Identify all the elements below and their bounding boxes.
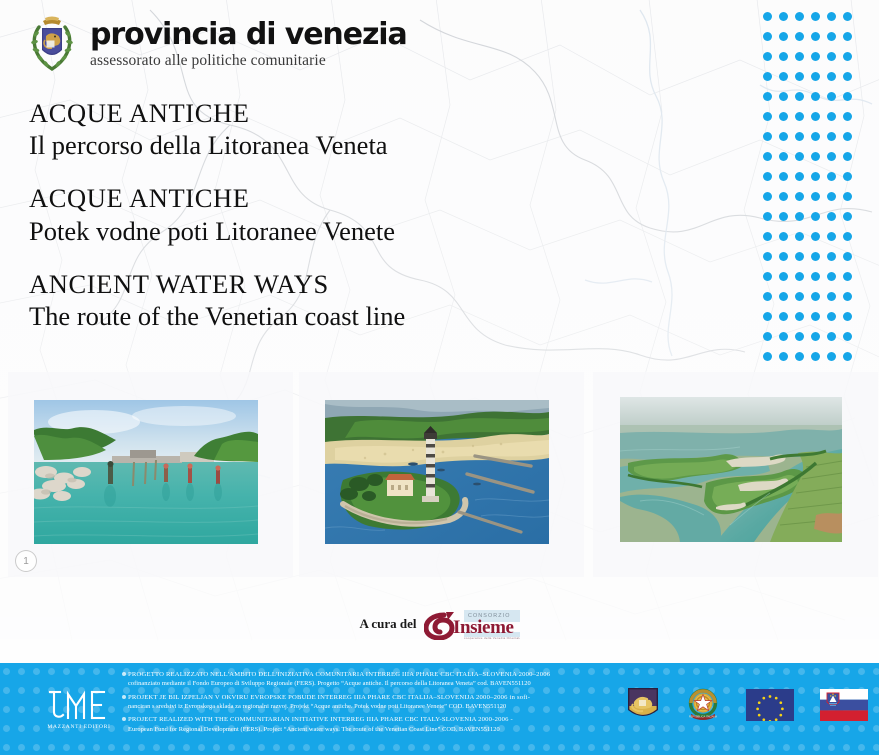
footer-dot	[63, 744, 70, 751]
decorative-dot	[763, 232, 772, 241]
decorative-dot	[811, 12, 820, 21]
footer-dot	[873, 668, 879, 675]
footer-dot	[78, 668, 85, 675]
decorative-dot	[827, 312, 836, 321]
footer-dot	[3, 725, 10, 732]
decorative-dot	[811, 352, 820, 361]
decorative-dot	[843, 112, 852, 121]
decorative-dot-grid	[759, 6, 855, 364]
decorative-dot	[827, 12, 836, 21]
decorative-dot	[779, 312, 788, 321]
footer-dot	[738, 744, 745, 751]
footer-dot	[768, 744, 775, 751]
footer-dot	[78, 744, 85, 751]
footer-dot	[498, 744, 505, 751]
decorative-dot	[811, 192, 820, 201]
bullet-icon	[122, 672, 126, 676]
decorative-dot	[811, 252, 820, 261]
footer-dot	[708, 725, 715, 732]
footer-dot	[633, 725, 640, 732]
decorative-dot	[763, 192, 772, 201]
footer-dot	[768, 725, 775, 732]
decorative-dot	[763, 172, 772, 181]
footer-funding-text: PROGETTO REALIZZATO NELL'AMBITO DELL'INI…	[128, 670, 610, 734]
footer-dot	[633, 744, 640, 751]
footer-dot	[93, 744, 100, 751]
provincia-venezia-coat-of-arms-icon	[28, 14, 76, 74]
veneto-coat-of-arms-icon	[626, 686, 660, 724]
decorative-dot	[779, 332, 788, 341]
decorative-dot	[779, 352, 788, 361]
decorative-dot	[779, 292, 788, 301]
decorative-dot	[779, 232, 788, 241]
decorative-dot	[763, 12, 772, 21]
decorative-dot	[827, 292, 836, 301]
decorative-dot	[779, 52, 788, 61]
footer-dot	[693, 744, 700, 751]
footer-dot	[618, 744, 625, 751]
footer-dot	[678, 668, 685, 675]
footer-dot	[723, 744, 730, 751]
decorative-dot	[843, 212, 852, 221]
decorative-dot	[843, 132, 852, 141]
footer-dot	[618, 668, 625, 675]
mazzanti-editori-logo: MAZZANTI EDITORI	[36, 688, 122, 730]
footer-dot	[843, 725, 850, 732]
footer-dot	[3, 668, 10, 675]
decorative-dot	[795, 172, 804, 181]
decorative-dot	[795, 72, 804, 81]
footer-dot	[48, 668, 55, 675]
title-group: ACQUE ANTICHE Il percorso della Litorane…	[29, 98, 405, 333]
decorative-dot	[795, 12, 804, 21]
decorative-dot	[779, 152, 788, 161]
footer-dot	[873, 706, 879, 713]
footer-dot	[378, 744, 385, 751]
decorative-dot	[811, 132, 820, 141]
footer-dot	[648, 744, 655, 751]
decorative-dot	[795, 272, 804, 281]
decorative-dot	[779, 172, 788, 181]
footer-dot	[723, 668, 730, 675]
decorative-dot	[827, 252, 836, 261]
bullet-icon	[122, 695, 126, 699]
decorative-dot	[795, 312, 804, 321]
decorative-dot	[843, 152, 852, 161]
title-sl-lower: Potek vodne poti Litoranee Venete	[29, 215, 405, 248]
footer-dot	[333, 744, 340, 751]
decorative-dot	[843, 32, 852, 41]
decorative-dot	[779, 132, 788, 141]
footer-dot	[423, 744, 430, 751]
decorative-dot	[795, 152, 804, 161]
title-sl-upper: ACQUE ANTICHE	[29, 183, 405, 214]
decorative-dot	[763, 112, 772, 121]
title-it-lower: Il percorso della Litoranea Veneta	[29, 129, 405, 162]
footer-dot	[513, 744, 520, 751]
decorative-dot	[779, 212, 788, 221]
decorative-dot	[811, 272, 820, 281]
title-en-lower: The route of the Venetian coast line	[29, 300, 405, 333]
decorative-dot	[795, 192, 804, 201]
decorative-dot	[795, 112, 804, 121]
footer-dot	[48, 744, 55, 751]
footer-dot	[858, 725, 865, 732]
footer-dot	[663, 725, 670, 732]
footer-dot	[603, 744, 610, 751]
footer-dot	[3, 744, 10, 751]
decorative-dot	[827, 332, 836, 341]
decorative-dot	[763, 92, 772, 101]
footer-dot	[723, 725, 730, 732]
decorative-dot	[827, 192, 836, 201]
footer-dot	[783, 668, 790, 675]
decorative-dot	[827, 212, 836, 221]
footer-dot	[93, 668, 100, 675]
footer-paragraph-sl: PROJEKT JE BIL IZPELJAN V OKVIRU EVROPSK…	[128, 693, 610, 712]
decorative-dot	[827, 152, 836, 161]
footer-dot	[828, 668, 835, 675]
decorative-dot	[763, 272, 772, 281]
photo-lighthouse	[299, 372, 584, 577]
brand-text: provincia di venezia assessorato alle po…	[90, 18, 407, 71]
footer-paragraph-it: PROGETTO REALIZZATO NELL'AMBITO DELL'INI…	[128, 670, 610, 689]
footer-dot	[693, 668, 700, 675]
decorative-dot	[843, 232, 852, 241]
footer-dot	[783, 744, 790, 751]
decorative-dot	[843, 292, 852, 301]
footer-dot	[33, 744, 40, 751]
footer-dot	[18, 668, 25, 675]
svg-text:cooperative della Venezia Orie: cooperative della Venezia Orientale	[464, 636, 520, 640]
footer-dot	[258, 744, 265, 751]
title-en-upper: ANCIENT WATER WAYS	[29, 269, 405, 300]
decorative-dot	[811, 312, 820, 321]
decorative-dot	[811, 232, 820, 241]
decorative-dot	[843, 172, 852, 181]
footer-dot	[648, 668, 655, 675]
footer-dot	[558, 744, 565, 751]
footer-dot	[873, 687, 879, 694]
decorative-dot	[827, 352, 836, 361]
decorative-dot	[795, 212, 804, 221]
footer-dot	[648, 725, 655, 732]
footer-dot	[618, 725, 625, 732]
decorative-dot	[827, 172, 836, 181]
decorative-dot	[827, 52, 836, 61]
footer-dot	[678, 725, 685, 732]
title-block-en: ANCIENT WATER WAYS The route of the Vene…	[29, 269, 405, 333]
decorative-dot	[843, 272, 852, 281]
footer-dot	[123, 744, 130, 751]
title-block-sl: ACQUE ANTICHE Potek vodne poti Litoranee…	[29, 183, 405, 247]
decorative-dot	[763, 32, 772, 41]
header-logo-block: provincia di venezia assessorato alle po…	[28, 14, 407, 74]
footer-sl-line1: PROJEKT JE BIL IZPELJAN V OKVIRU EVROPSK…	[128, 693, 610, 702]
decorative-dot	[811, 172, 820, 181]
footer-dot	[618, 706, 625, 713]
footer-it-line2: cofinanziato mediante il Fondo Europeo d…	[128, 679, 610, 688]
decorative-dot	[843, 12, 852, 21]
footer-dot	[63, 668, 70, 675]
credit-line: A cura del CONSORZIO Insieme cooperative…	[0, 608, 879, 640]
footer-dot	[18, 744, 25, 751]
footer-dot	[618, 687, 625, 694]
footer-dot	[708, 744, 715, 751]
footer-dot	[753, 668, 760, 675]
decorative-dot	[795, 32, 804, 41]
footer-dot	[363, 744, 370, 751]
svg-text:REPVBBLICA ITALIANA: REPVBBLICA ITALIANA	[689, 715, 717, 719]
footer-dot	[753, 725, 760, 732]
footer-dot	[693, 725, 700, 732]
footer-dot	[438, 744, 445, 751]
title-block-it: ACQUE ANTICHE Il percorso della Litorane…	[29, 98, 405, 162]
footer-dot	[483, 744, 490, 751]
photo-river-delta	[593, 372, 878, 577]
jme-monogram-icon	[48, 688, 110, 722]
decorative-dot	[811, 52, 820, 61]
footer-dot	[858, 668, 865, 675]
footer-dot	[138, 744, 145, 751]
footer-dot	[738, 668, 745, 675]
footer-dot	[183, 744, 190, 751]
decorative-dot	[827, 112, 836, 121]
footer-dot	[243, 744, 250, 751]
credit-label: A cura del	[359, 616, 416, 632]
footer-dot	[843, 668, 850, 675]
footer-dot	[828, 744, 835, 751]
decorative-dot	[811, 292, 820, 301]
decorative-dot	[795, 352, 804, 361]
decorative-dot	[827, 232, 836, 241]
decorative-dot	[779, 12, 788, 21]
decorative-dot	[843, 72, 852, 81]
page-number-badge: 1	[15, 550, 37, 572]
decorative-dot	[811, 152, 820, 161]
decorative-dot	[843, 352, 852, 361]
decorative-dot	[843, 332, 852, 341]
decorative-dot	[779, 92, 788, 101]
poster-page: provincia di venezia assessorato alle po…	[0, 0, 879, 755]
footer-dot	[753, 744, 760, 751]
footer-dot	[738, 725, 745, 732]
decorative-dot	[811, 332, 820, 341]
svg-text:Insieme: Insieme	[453, 617, 514, 638]
footer-dot	[33, 668, 40, 675]
decorative-dot	[763, 52, 772, 61]
footer-dot	[543, 744, 550, 751]
footer-en-line2: European Fund for Regional Development (…	[128, 725, 610, 734]
footer-dot	[663, 668, 670, 675]
decorative-dot	[827, 92, 836, 101]
footer-dot	[633, 668, 640, 675]
footer-emblem-row: REPVBBLICA ITALIANA	[626, 686, 868, 724]
footer-dot	[828, 725, 835, 732]
decorative-dot	[763, 212, 772, 221]
footer-dot	[453, 744, 460, 751]
decorative-dot	[763, 252, 772, 261]
decorative-dot	[843, 252, 852, 261]
decorative-dot	[779, 272, 788, 281]
mazzanti-caption: MAZZANTI EDITORI	[36, 724, 122, 730]
decorative-dot	[811, 92, 820, 101]
italian-republic-emblem-icon: REPVBBLICA ITALIANA	[686, 686, 720, 724]
decorative-dot	[795, 92, 804, 101]
footer-it-line1: PROGETTO REALIZZATO NELL'AMBITO DELL'INI…	[128, 670, 610, 679]
decorative-dot	[795, 132, 804, 141]
footer-dot	[198, 744, 205, 751]
decorative-dot	[763, 72, 772, 81]
footer-sl-line2: nanciran s sredstvi iz Evropskega sklada…	[128, 702, 610, 711]
decorative-dot	[827, 72, 836, 81]
footer-dot	[678, 744, 685, 751]
footer-dot	[288, 744, 295, 751]
footer-dot	[708, 668, 715, 675]
decorative-dot	[811, 112, 820, 121]
footer-paragraph-en: PROJECT REALIZED WITH THE COMMUNITARIAN …	[128, 715, 610, 734]
footer-dot	[843, 744, 850, 751]
footer-dot	[228, 744, 235, 751]
footer-dot	[213, 744, 220, 751]
footer-dot	[663, 744, 670, 751]
footer-dot	[468, 744, 475, 751]
decorative-dot	[795, 252, 804, 261]
footer-dot	[813, 744, 820, 751]
title-it-upper: ACQUE ANTICHE	[29, 98, 405, 129]
brand-subtitle: assessorato alle politiche comunitarie	[90, 52, 407, 70]
footer-dot	[3, 706, 10, 713]
decorative-dot	[827, 272, 836, 281]
footer-dot	[813, 668, 820, 675]
decorative-dot	[779, 72, 788, 81]
footer-dot	[798, 668, 805, 675]
decorative-dot	[811, 72, 820, 81]
footer-dot	[573, 744, 580, 751]
footer-dot	[798, 744, 805, 751]
decorative-dot	[763, 312, 772, 321]
decorative-dot	[779, 112, 788, 121]
footer-dot	[783, 725, 790, 732]
decorative-dot	[827, 32, 836, 41]
photo-canal	[8, 372, 293, 577]
footer-dot	[528, 744, 535, 751]
footer-dot	[393, 744, 400, 751]
european-union-flag-icon	[746, 689, 794, 721]
footer-dot	[153, 744, 160, 751]
footer-dot	[348, 744, 355, 751]
footer-dot	[303, 744, 310, 751]
decorative-dot	[763, 152, 772, 161]
decorative-dot	[843, 312, 852, 321]
decorative-dot	[779, 192, 788, 201]
footer-dot	[873, 744, 879, 751]
decorative-dot	[795, 292, 804, 301]
footer-dot	[798, 725, 805, 732]
footer-dot	[108, 744, 115, 751]
footer-dot	[813, 725, 820, 732]
consorzio-insieme-logo-icon: CONSORZIO Insieme cooperative della Vene…	[424, 608, 520, 640]
decorative-dot	[843, 192, 852, 201]
footer-dot	[588, 744, 595, 751]
footer-dot	[768, 668, 775, 675]
decorative-dot	[843, 52, 852, 61]
footer-dot	[318, 744, 325, 751]
footer-dot	[873, 725, 879, 732]
footer-dot	[3, 687, 10, 694]
footer-dot	[108, 668, 115, 675]
decorative-dot	[795, 332, 804, 341]
brand-title: provincia di venezia	[90, 20, 407, 51]
decorative-dot	[811, 212, 820, 221]
footer-dot	[858, 744, 865, 751]
footer-dot	[408, 744, 415, 751]
decorative-dot	[811, 32, 820, 41]
footer-dot	[18, 725, 25, 732]
decorative-dot	[763, 332, 772, 341]
decorative-dot	[763, 352, 772, 361]
photo-canal-image	[34, 400, 258, 544]
decorative-dot	[779, 252, 788, 261]
decorative-dot	[763, 132, 772, 141]
decorative-dot	[763, 292, 772, 301]
footer-dot	[18, 687, 25, 694]
decorative-dot	[827, 132, 836, 141]
decorative-dot	[843, 92, 852, 101]
footer-dot	[168, 744, 175, 751]
slovenia-flag-icon	[820, 689, 868, 721]
footer-en-line1: PROJECT REALIZED WITH THE COMMUNITARIAN …	[128, 715, 610, 724]
decorative-dot	[779, 32, 788, 41]
photo-river-delta-image	[620, 397, 842, 542]
photo-lighthouse-image	[325, 400, 549, 544]
footer-dot	[273, 744, 280, 751]
decorative-dot	[795, 52, 804, 61]
photo-row	[0, 372, 879, 577]
footer-dot	[18, 706, 25, 713]
decorative-dot	[795, 232, 804, 241]
